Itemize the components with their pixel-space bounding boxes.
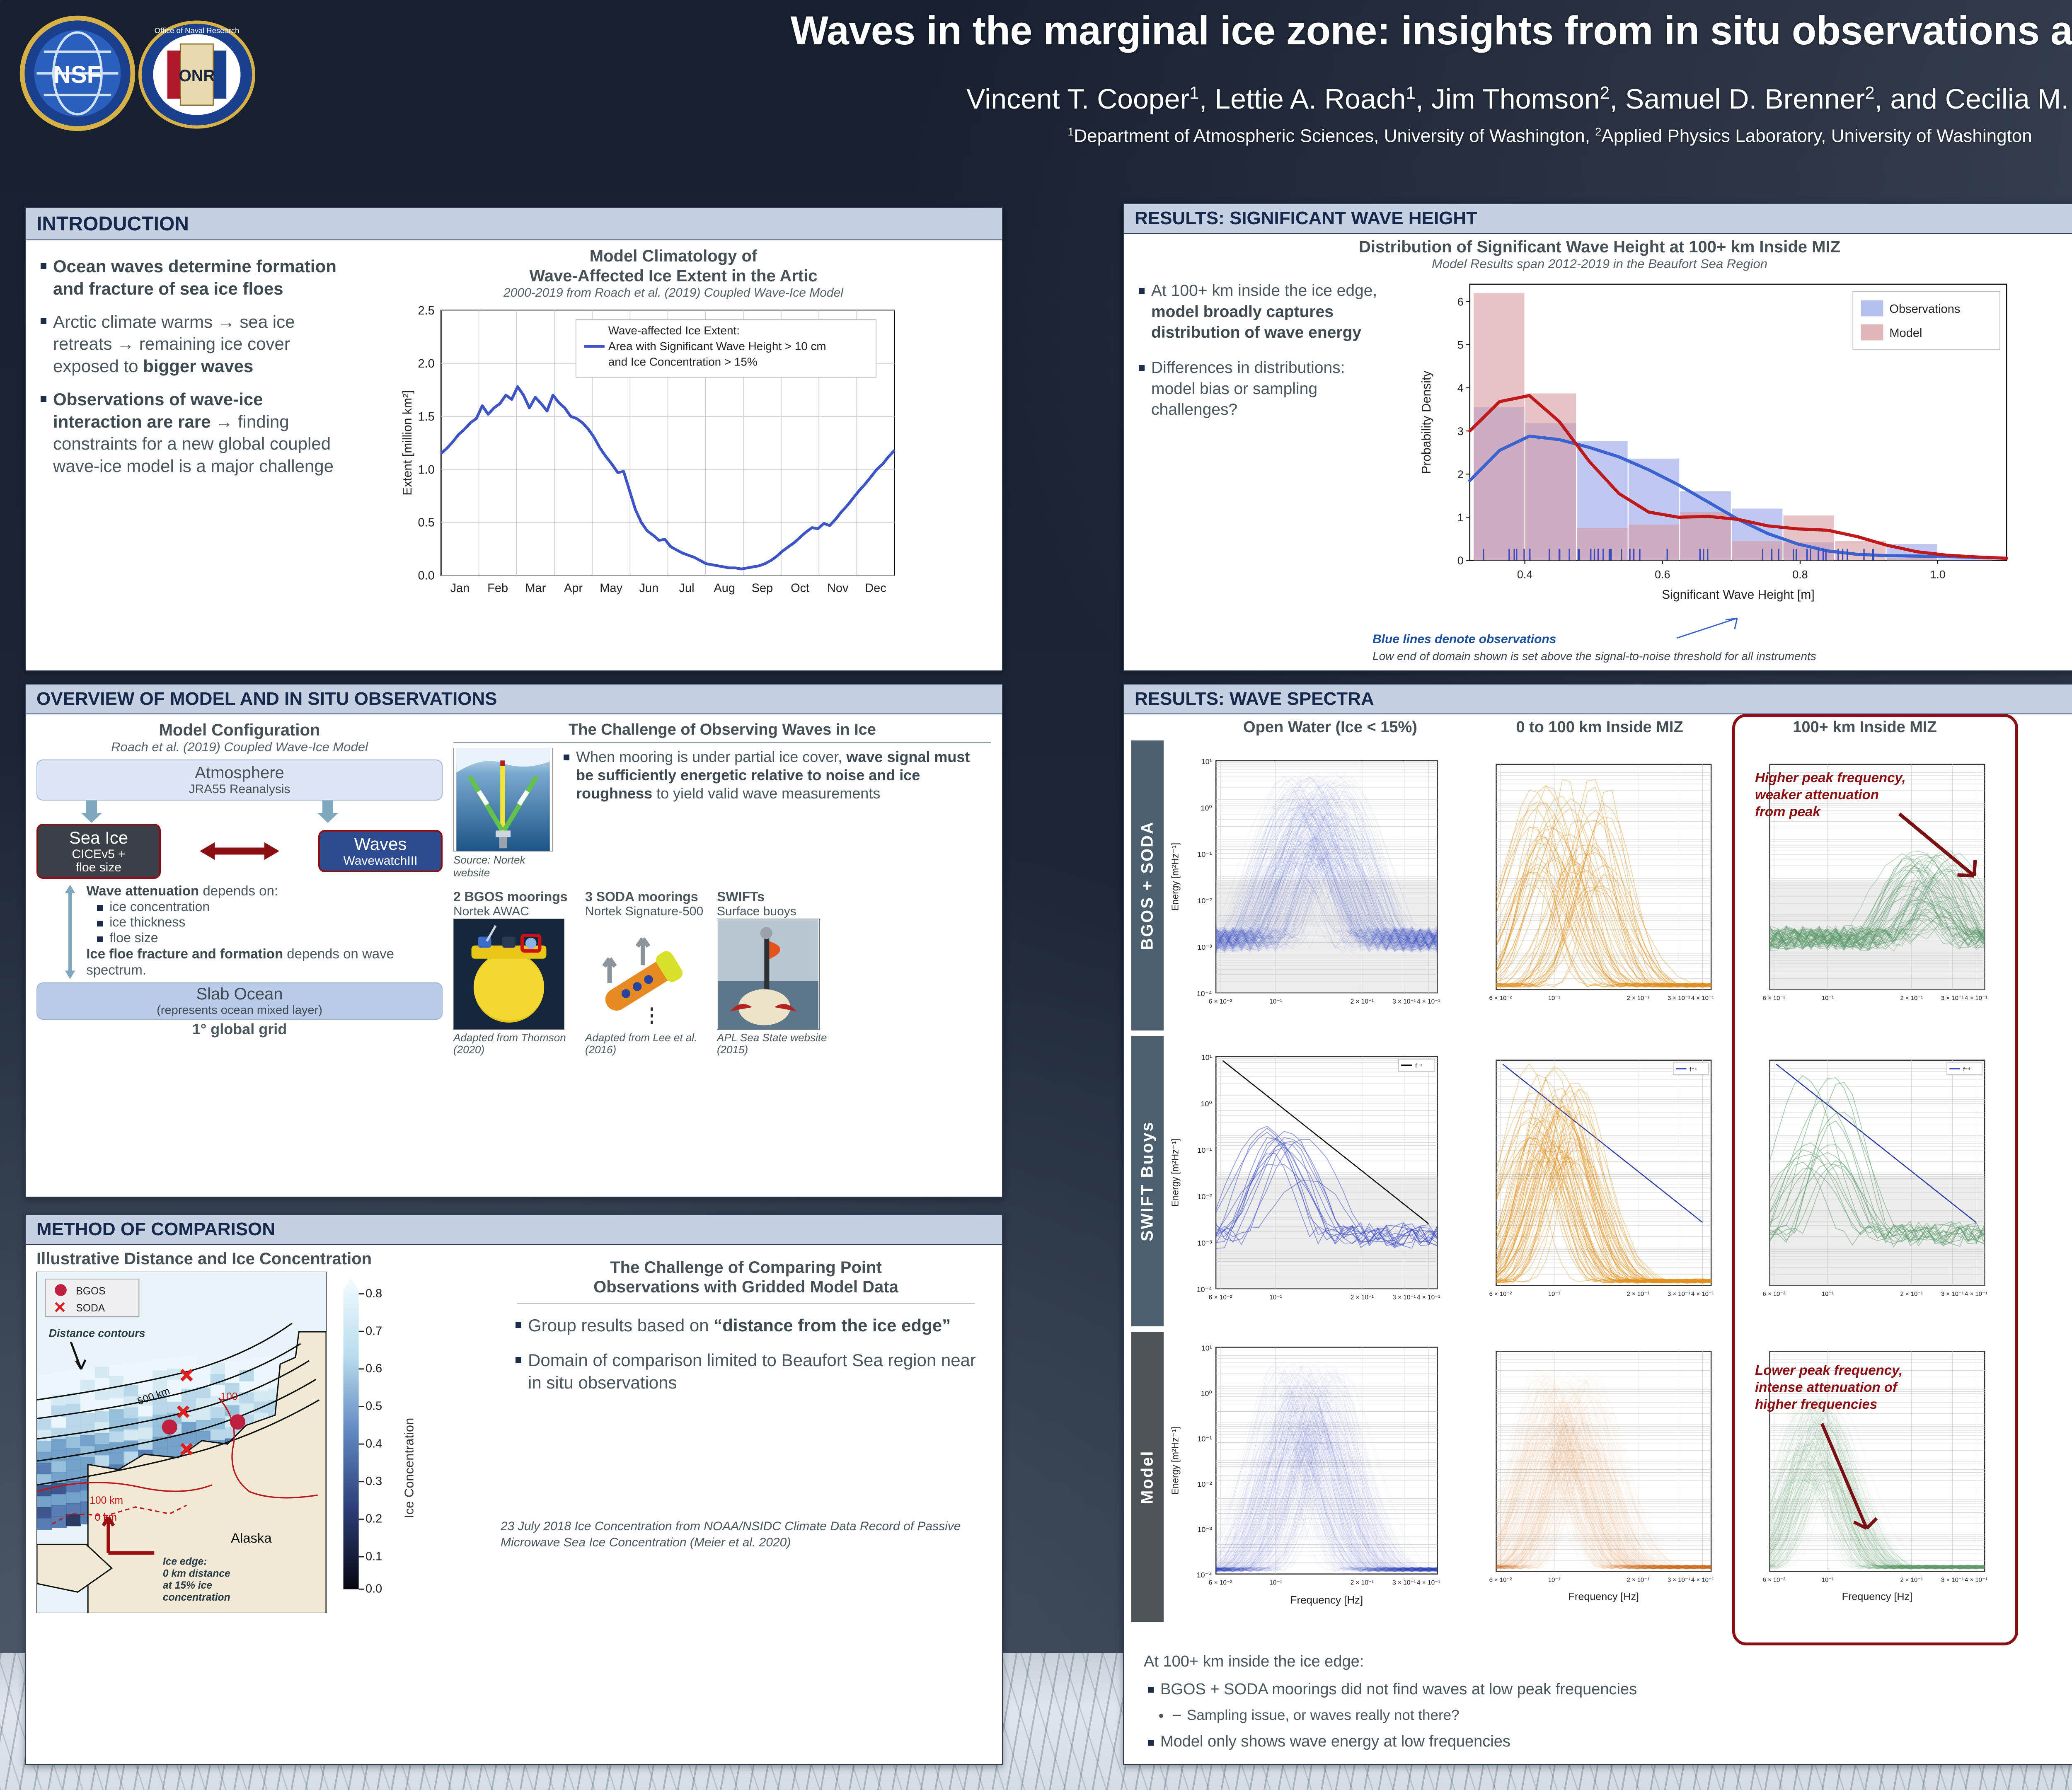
- spectra-conclusion-list: BGOS + SODA moorings did not find waves …: [1144, 1680, 2068, 1700]
- onr-logo: ONR Office of Naval Research: [137, 19, 257, 131]
- svg-text:4 × 10⁻¹: 4 × 10⁻¹: [1417, 998, 1440, 1005]
- svg-text:3 × 10⁻¹: 3 × 10⁻¹: [1392, 1294, 1416, 1301]
- introduction-heading: INTRODUCTION: [26, 208, 1002, 240]
- svg-text:Sep: Sep: [752, 582, 773, 595]
- spectra-plot-0-0: 10⁻⁴10⁻³10⁻²10⁻¹10⁰10¹Energy [m²Hz⁻¹]6 ×…: [1164, 740, 1445, 1030]
- svg-text:10⁻³: 10⁻³: [1197, 1239, 1212, 1247]
- list-item: Model only shows wave energy at low freq…: [1144, 1733, 2068, 1751]
- svg-text:Nov: Nov: [827, 582, 849, 595]
- svg-text:0.4: 0.4: [366, 1437, 382, 1450]
- svg-text:100: 100: [220, 1391, 237, 1402]
- svg-text:10¹: 10¹: [1201, 1344, 1212, 1352]
- svg-text:Frequency [Hz]: Frequency [Hz]: [1569, 1591, 1639, 1603]
- swh-footnote: Low end of domain shown is set above the…: [1372, 650, 1816, 663]
- svg-text:Wave-affected Ice Extent:: Wave-affected Ice Extent:: [608, 324, 740, 337]
- figure-title-line1: Model Climatology of: [356, 246, 991, 266]
- method-comparison-text: The Challenge of Comparing Point Observa…: [501, 1250, 991, 1613]
- svg-text:Ice edge:: Ice edge:: [163, 1556, 207, 1567]
- author-list: Vincent T. Cooper1, Lettie A. Roach1, Ji…: [390, 83, 2072, 115]
- spectra-annotation-top: Higher peak frequency, weaker attenuatio…: [1755, 769, 1908, 820]
- svg-text:4 × 10⁻¹: 4 × 10⁻¹: [1417, 1580, 1440, 1587]
- svg-text:0.8: 0.8: [366, 1287, 382, 1300]
- svg-text:10⁻¹: 10⁻¹: [1197, 850, 1212, 859]
- svg-text:0.5: 0.5: [366, 1400, 382, 1413]
- attenuation-note: Wave attenuation depends on: ice concent…: [36, 883, 443, 981]
- svg-text:10⁻⁴: 10⁻⁴: [1197, 1571, 1212, 1579]
- svg-text:10⁻¹: 10⁻¹: [1548, 995, 1560, 1002]
- spectra-plot-1-0: 10⁻⁴10⁻³10⁻²10⁻¹10⁰10¹Energy [m²Hz⁻¹]6 ×…: [1164, 1036, 1445, 1326]
- page-title: Waves in the marginal ice zone: insights…: [390, 7, 2072, 54]
- svg-text:6 × 10⁻²: 6 × 10⁻²: [1489, 995, 1512, 1002]
- svg-text:10⁻¹: 10⁻¹: [1269, 1580, 1282, 1587]
- svg-text:Jul: Jul: [679, 582, 695, 595]
- svg-text:0.6: 0.6: [1655, 568, 1670, 581]
- svg-text:6 × 10⁻²: 6 × 10⁻²: [1209, 1580, 1232, 1587]
- svg-text:100 km: 100 km: [90, 1495, 123, 1506]
- svg-text:f⁻⁴: f⁻⁴: [1690, 1066, 1697, 1072]
- svg-text:and Ice Concentration > 15%: and Ice Concentration > 15%: [608, 356, 758, 368]
- svg-text:1: 1: [1457, 511, 1464, 524]
- svg-text:SODA: SODA: [76, 1303, 105, 1314]
- list-item: Arctic climate warms → sea ice retreats …: [36, 311, 351, 377]
- svg-text:6 × 10⁻²: 6 × 10⁻²: [1489, 1291, 1512, 1298]
- vertical-double-arrow-icon: [61, 883, 79, 981]
- svg-text:4 × 10⁻¹: 4 × 10⁻¹: [1417, 1294, 1440, 1301]
- svg-text:Significant Wave Height [m]: Significant Wave Height [m]: [1662, 588, 1815, 602]
- svg-text:2 × 10⁻¹: 2 × 10⁻¹: [1351, 998, 1374, 1005]
- observing-challenge-bullets: When mooring is under partial ice cover,…: [559, 748, 991, 879]
- panel-overview: OVERVIEW OF MODEL AND IN SITU OBSERVATIO…: [25, 684, 1003, 1197]
- list-item: ice concentration: [93, 899, 443, 915]
- svg-text:10⁻²: 10⁻²: [1197, 1480, 1212, 1488]
- svg-text:4: 4: [1457, 382, 1464, 394]
- svg-text:6: 6: [1457, 295, 1464, 308]
- svg-text:Aug: Aug: [714, 582, 735, 595]
- panel-introduction: INTRODUCTION Ocean waves determine forma…: [25, 207, 1003, 671]
- svg-text:Office of Naval Research: Office of Naval Research: [155, 26, 240, 35]
- swh-annotation-arrow-icon: [1675, 616, 1758, 641]
- svg-text:Probability Density: Probability Density: [1420, 371, 1433, 474]
- swh-annotation-blue: Blue lines denote observations: [1372, 632, 1556, 646]
- svg-text:Area with Significant Wave Hei: Area with Significant Wave Height > 10 c…: [608, 340, 826, 353]
- model-coupling-row: Sea Ice CICEv5 + floe size Waves Wavewat…: [36, 824, 443, 879]
- spectra-row-label-2: Model: [1131, 1332, 1164, 1622]
- svg-text:2.0: 2.0: [418, 357, 434, 370]
- map-source-note: 23 July 2018 Ice Concentration from NOAA…: [501, 1518, 991, 1551]
- model-config-title: Model Configuration: [36, 721, 443, 740]
- svg-text:2 × 10⁻¹: 2 × 10⁻¹: [1627, 1577, 1649, 1584]
- spectra-annotation-bottom: Lower peak frequency, intense attenuatio…: [1755, 1362, 1921, 1413]
- instrument-gallery: 2 BGOS moorings Nortek AWAC Adapted from: [453, 889, 991, 1056]
- svg-text:10⁰: 10⁰: [1201, 804, 1212, 812]
- svg-text:3 × 10⁻¹: 3 × 10⁻¹: [1668, 1577, 1690, 1584]
- svg-text:10⁻¹: 10⁻¹: [1197, 1146, 1212, 1154]
- svg-text:10⁻²: 10⁻²: [1197, 897, 1212, 905]
- svg-text:Model: Model: [1889, 327, 1922, 340]
- svg-text:0.0: 0.0: [366, 1582, 382, 1596]
- svg-text:10¹: 10¹: [1201, 757, 1212, 766]
- svg-text:0.7: 0.7: [366, 1324, 382, 1338]
- svg-text:0: 0: [1457, 554, 1464, 567]
- observing-challenge-title: The Challenge of Observing Waves in Ice: [453, 721, 991, 739]
- model-box-atmosphere: Atmosphere JRA55 Reanalysis: [36, 760, 443, 801]
- svg-text:Frequency [Hz]: Frequency [Hz]: [1290, 1594, 1363, 1606]
- model-box-waves: Waves WavewatchIII: [318, 830, 443, 872]
- svg-text:Energy [m²Hz⁻¹]: Energy [m²Hz⁻¹]: [1170, 1139, 1181, 1207]
- spectra-annotation-arrow-top-icon: [1896, 811, 1995, 890]
- svg-text:6 × 10⁻²: 6 × 10⁻²: [1489, 1577, 1512, 1584]
- svg-text:0.2: 0.2: [366, 1512, 382, 1526]
- list-item: BGOS + SODA moorings did not find waves …: [1144, 1680, 2068, 1700]
- instrument-soda: 3 SODA moorings Nortek Signature-500: [585, 889, 709, 1056]
- svg-text:10⁰: 10⁰: [1201, 1100, 1212, 1108]
- bgos-awac-photo: [453, 919, 564, 1030]
- spectra-row-label-1: SWIFT Buoys: [1131, 1036, 1164, 1326]
- svg-text:10⁰: 10⁰: [1201, 1389, 1212, 1398]
- svg-text:2 × 10⁻¹: 2 × 10⁻¹: [1627, 995, 1649, 1002]
- svg-text:10⁻¹: 10⁻¹: [1197, 1434, 1212, 1443]
- svg-text:10⁻¹: 10⁻¹: [1269, 1294, 1282, 1301]
- model-box-sea-ice: Sea Ice CICEv5 + floe size: [36, 824, 161, 879]
- svg-text:Mar: Mar: [525, 582, 546, 595]
- svg-text:Observations: Observations: [1889, 302, 1960, 316]
- spectra-conclusion-sub-list: Sampling issue, or waves really not ther…: [1170, 1707, 2068, 1724]
- comparison-title-l2: Observations with Gridded Model Data: [501, 1277, 991, 1297]
- list-item: At 100+ km inside the ice edge, model br…: [1135, 281, 1392, 343]
- spectra-conclusion-lead: At 100+ km inside the ice edge:: [1144, 1653, 2068, 1671]
- svg-text:Distance contours: Distance contours: [49, 1327, 145, 1339]
- svg-text:4 × 10⁻¹: 4 × 10⁻¹: [1691, 995, 1714, 1002]
- instrument-swift: SWIFTs Surface buoys APL Sea State websi…: [717, 889, 833, 1056]
- ice-concentration-map: BGOS SODA Distance contours 500 km 100 1…: [36, 1272, 327, 1613]
- model-config-subtitle: Roach et al. (2019) Coupled Wave-Ice Mod…: [36, 740, 443, 755]
- svg-text:0.6: 0.6: [366, 1362, 382, 1375]
- svg-text:4 × 10⁻¹: 4 × 10⁻¹: [1691, 1577, 1714, 1584]
- swh-chart: 01234560.40.60.81.0Significant Wave Heig…: [1392, 266, 2038, 623]
- overview-heading: OVERVIEW OF MODEL AND IN SITU OBSERVATIO…: [26, 685, 1002, 714]
- svg-text:at 15% ice: at 15% ice: [163, 1580, 212, 1591]
- attenuation-list: ice concentration ice thickness floe siz…: [93, 899, 443, 946]
- svg-text:10⁻²: 10⁻²: [1197, 1193, 1212, 1201]
- svg-text:Energy [m²Hz⁻¹]: Energy [m²Hz⁻¹]: [1170, 1427, 1181, 1495]
- swh-bullets: At 100+ km inside the ice edge, model br…: [1135, 271, 1392, 623]
- climatology-chart: 0.00.51.01.52.02.5JanFebMarAprMayJunJulA…: [356, 298, 944, 622]
- list-item: ice thickness: [93, 914, 443, 930]
- svg-text:ONR: ONR: [179, 67, 215, 85]
- svg-text:Oct: Oct: [791, 582, 809, 595]
- svg-text:0.5: 0.5: [418, 516, 434, 530]
- svg-text:10⁻³: 10⁻³: [1197, 943, 1212, 951]
- model-box-slab-ocean: Slab Ocean (represents ocean mixed layer…: [36, 982, 443, 1020]
- map-title: Illustrative Distance and Ice Concentrat…: [36, 1250, 492, 1268]
- svg-text:Feb: Feb: [487, 582, 508, 595]
- svg-text:0.0: 0.0: [418, 569, 434, 583]
- svg-text:2 × 10⁻¹: 2 × 10⁻¹: [1627, 1291, 1649, 1298]
- climatology-figure: Model Climatology of Wave-Affected Ice E…: [351, 246, 991, 624]
- svg-text:Ice Concentration: Ice Concentration: [402, 1418, 416, 1518]
- svg-text:NSF: NSF: [53, 61, 102, 88]
- double-arrow-icon: [194, 838, 285, 864]
- panel-method: METHOD OF COMPARISON Illustrative Distan…: [25, 1214, 1003, 1765]
- spectra-conclusion: At 100+ km inside the ice edge: BGOS + S…: [1131, 1653, 2068, 1751]
- poster-header: NSF ONR Office of Naval Research DEPARTM…: [0, 0, 2072, 191]
- figure-subtitle: 2000-2019 from Roach et al. (2019) Coupl…: [356, 286, 991, 300]
- nortek-diagram-caption: Source: Nortek website: [453, 854, 553, 879]
- svg-text:6 × 10⁻²: 6 × 10⁻²: [1209, 1294, 1232, 1301]
- list-item: Group results based on “distance from th…: [511, 1314, 991, 1337]
- comparison-title-l1: The Challenge of Comparing Point: [501, 1258, 991, 1277]
- map-colorbar: 0.80.70.6 0.50.40.3 0.20.10.0 Ice Concen…: [327, 1272, 430, 1613]
- spectra-plot-0-1: 6 × 10⁻²10⁻¹2 × 10⁻¹3 × 10⁻¹4 × 10⁻¹: [1445, 740, 1719, 1030]
- svg-text:2.5: 2.5: [418, 304, 434, 317]
- svg-text:3 × 10⁻¹: 3 × 10⁻¹: [1392, 1580, 1416, 1587]
- comparison-bullets: Group results based on “distance from th…: [501, 1314, 991, 1393]
- svg-text:10⁻⁴: 10⁻⁴: [1197, 1285, 1212, 1294]
- svg-text:10⁻¹: 10⁻¹: [1269, 998, 1282, 1005]
- svg-text:2 × 10⁻¹: 2 × 10⁻¹: [1351, 1580, 1374, 1587]
- svg-text:0.3: 0.3: [366, 1475, 382, 1488]
- svg-text:Jun: Jun: [639, 582, 659, 595]
- svg-text:1.0: 1.0: [1930, 568, 1945, 581]
- spectra-col-title-1: 0 to 100 km Inside MIZ: [1467, 718, 1732, 736]
- svg-text:0 km distance: 0 km distance: [163, 1568, 230, 1579]
- svg-text:f⁻⁴: f⁻⁴: [1415, 1063, 1423, 1069]
- list-item: Differences in distributions: model bias…: [1135, 358, 1392, 421]
- spectra-heading: RESULTS: WAVE SPECTRA: [1124, 685, 2072, 714]
- svg-text:Dec: Dec: [865, 582, 886, 595]
- panel-significant-wave-height: RESULTS: SIGNIFICANT WAVE HEIGHT Distrib…: [1123, 203, 2072, 671]
- svg-text:10⁻¹: 10⁻¹: [1548, 1291, 1560, 1298]
- spectra-annotation-arrow-bottom-icon: [1819, 1412, 1910, 1548]
- list-item: Domain of comparison limited to Beaufort…: [511, 1349, 991, 1394]
- list-item: Observations of wave-ice interaction are…: [36, 388, 351, 477]
- svg-text:Alaska: Alaska: [231, 1530, 272, 1546]
- method-heading: METHOD OF COMPARISON: [26, 1215, 1002, 1245]
- soda-signature500-diagram: [585, 919, 696, 1030]
- svg-text:Extent [million km²]: Extent [million km²]: [401, 390, 414, 496]
- svg-text:4 × 10⁻¹: 4 × 10⁻¹: [1691, 1291, 1714, 1298]
- arrows-atmosphere-down: [36, 801, 443, 824]
- svg-text:1.5: 1.5: [418, 410, 434, 423]
- svg-text:6 × 10⁻²: 6 × 10⁻²: [1209, 998, 1232, 1005]
- svg-text:BGOS: BGOS: [76, 1286, 105, 1297]
- panel-wave-spectra: RESULTS: WAVE SPECTRA Open Water (Ice < …: [1123, 684, 2072, 1765]
- svg-text:concentration: concentration: [163, 1592, 230, 1603]
- spectra-row-label-0: BGOS + SODA: [1131, 740, 1164, 1030]
- svg-text:0.1: 0.1: [366, 1550, 382, 1563]
- svg-text:3 × 10⁻¹: 3 × 10⁻¹: [1668, 995, 1690, 1002]
- grid-note: 1° global grid: [36, 1021, 443, 1038]
- list-item: Sampling issue, or waves really not ther…: [1170, 1707, 2068, 1724]
- spectra-conclusion-last-list: Model only shows wave energy at low freq…: [1144, 1733, 2068, 1751]
- svg-text:10¹: 10¹: [1201, 1053, 1212, 1062]
- svg-text:1.0: 1.0: [418, 463, 434, 477]
- spectra-plot-1-1: 6 × 10⁻²10⁻¹2 × 10⁻¹3 × 10⁻¹4 × 10⁻¹f⁻⁴: [1445, 1036, 1719, 1326]
- figure-title-line2: Wave-Affected Ice Extent in the Artic: [356, 266, 991, 286]
- svg-text:Apr: Apr: [564, 582, 583, 595]
- spectra-plot-2-1: 6 × 10⁻²10⁻¹2 × 10⁻¹3 × 10⁻¹4 × 10⁻¹Freq…: [1445, 1332, 1719, 1639]
- affiliation-line: 1Department of Atmospheric Sciences, Uni…: [390, 125, 2072, 147]
- svg-text:Jan: Jan: [450, 582, 470, 595]
- svg-text:10⁻¹: 10⁻¹: [1548, 1577, 1560, 1584]
- instrument-bgos: 2 BGOS moorings Nortek AWAC Adapted from: [453, 889, 578, 1056]
- swh-figure-title: Distribution of Significant Wave Height …: [1135, 238, 2065, 256]
- svg-text:10⁻⁴: 10⁻⁴: [1197, 989, 1212, 998]
- swift-buoy-photo: [717, 919, 820, 1030]
- spectra-plot-2-0: 10⁻⁴10⁻³10⁻²10⁻¹10⁰10¹Energy [m²Hz⁻¹]6 ×…: [1164, 1332, 1445, 1639]
- svg-text:Energy [m²Hz⁻¹]: Energy [m²Hz⁻¹]: [1170, 843, 1181, 911]
- svg-text:5: 5: [1457, 339, 1464, 351]
- svg-text:3: 3: [1457, 425, 1464, 438]
- swh-heading: RESULTS: SIGNIFICANT WAVE HEIGHT: [1124, 204, 2072, 234]
- list-item: Ocean waves determine formation and frac…: [36, 255, 351, 300]
- divider: [517, 1303, 975, 1304]
- nortek-diagram: Source: Nortek website: [453, 748, 553, 879]
- svg-text:0.8: 0.8: [1792, 568, 1808, 581]
- divider: [453, 742, 991, 743]
- list-item: When mooring is under partial ice cover,…: [559, 748, 991, 803]
- model-configuration: Model Configuration Roach et al. (2019) …: [36, 721, 443, 1056]
- svg-text:10⁻³: 10⁻³: [1197, 1525, 1212, 1534]
- nsf-logo: NSF: [17, 13, 138, 133]
- svg-text:2 × 10⁻¹: 2 × 10⁻¹: [1351, 1294, 1374, 1301]
- introduction-bullet-list: Ocean waves determine formation and frac…: [36, 246, 351, 624]
- svg-text:3 × 10⁻¹: 3 × 10⁻¹: [1392, 998, 1416, 1005]
- svg-text:2: 2: [1457, 468, 1464, 481]
- method-map-figure: Illustrative Distance and Ice Concentrat…: [36, 1250, 492, 1613]
- spectra-col-title-0: Open Water (Ice < 15%): [1193, 718, 1467, 736]
- svg-text:3 × 10⁻¹: 3 × 10⁻¹: [1668, 1291, 1690, 1298]
- svg-text:May: May: [600, 582, 622, 595]
- svg-text:0.4: 0.4: [1517, 568, 1532, 581]
- list-item: floe size: [93, 930, 443, 946]
- observing-challenge: The Challenge of Observing Waves in Ice: [453, 721, 991, 1056]
